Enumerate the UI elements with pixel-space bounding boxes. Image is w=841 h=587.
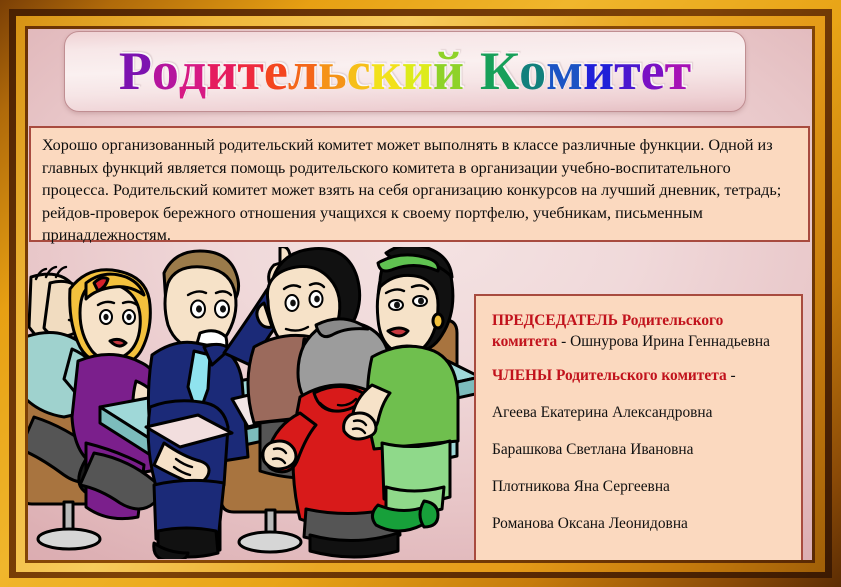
member-name: Агеева Екатерина Александровна bbox=[492, 402, 787, 423]
members-heading-line: ЧЛЕНЫ Родительского комитета - bbox=[492, 365, 787, 386]
title-letter: е bbox=[641, 36, 665, 106]
title-letter: т bbox=[665, 36, 692, 106]
poster-root: РодительскийКомитет Хорошо организованны… bbox=[0, 0, 841, 587]
title-letter: к bbox=[371, 36, 402, 106]
title-letter: и bbox=[206, 36, 237, 106]
title-letter: л bbox=[288, 36, 318, 106]
members-role: ЧЛЕНЫ Родительского комитета bbox=[492, 367, 727, 384]
title-letter: и bbox=[583, 36, 614, 106]
title-letter: м bbox=[546, 36, 583, 106]
chairperson-name: Ошнурова Ирина Геннадьевна bbox=[570, 333, 770, 350]
title-letter: и bbox=[402, 36, 433, 106]
description-box: Хорошо организованный родительский комит… bbox=[29, 126, 810, 242]
description-text: Хорошо организованный родительский комит… bbox=[42, 134, 798, 247]
title-letter: й bbox=[433, 36, 464, 106]
title-letter: е bbox=[264, 36, 288, 106]
title-letter: К bbox=[480, 36, 519, 106]
chairperson-separator: - bbox=[557, 333, 570, 350]
title-letter: о bbox=[519, 36, 546, 106]
title-letter: ь bbox=[318, 36, 347, 106]
title-letter: т bbox=[237, 36, 264, 106]
page-title: РодительскийКомитет bbox=[65, 36, 745, 106]
title-letter: с bbox=[347, 36, 371, 106]
chairperson-line: ПРЕДСЕДАТЕЛЬ Родительского комитета - Ош… bbox=[492, 310, 787, 352]
members-panel: ПРЕДСЕДАТЕЛЬ Родительского комитета - Ош… bbox=[474, 294, 803, 560]
members-separator: - bbox=[727, 367, 736, 384]
title-plate: РодительскийКомитет bbox=[64, 31, 746, 112]
title-letter: д bbox=[179, 36, 206, 106]
member-name: Плотникова Яна Сергеевна bbox=[492, 476, 787, 497]
poster-canvas: РодительскийКомитет Хорошо организованны… bbox=[28, 29, 812, 560]
meeting-illustration: .ol { stroke:#000; stroke-width:3; strok… bbox=[28, 247, 480, 559]
member-name: Романова Оксана Леонидовна bbox=[492, 513, 787, 534]
title-letter: о bbox=[152, 36, 179, 106]
title-letter: т bbox=[614, 36, 641, 106]
member-name: Барашкова Светлана Ивановна bbox=[492, 439, 787, 460]
title-letter: Р bbox=[119, 36, 152, 106]
panel-spacer bbox=[492, 352, 787, 365]
